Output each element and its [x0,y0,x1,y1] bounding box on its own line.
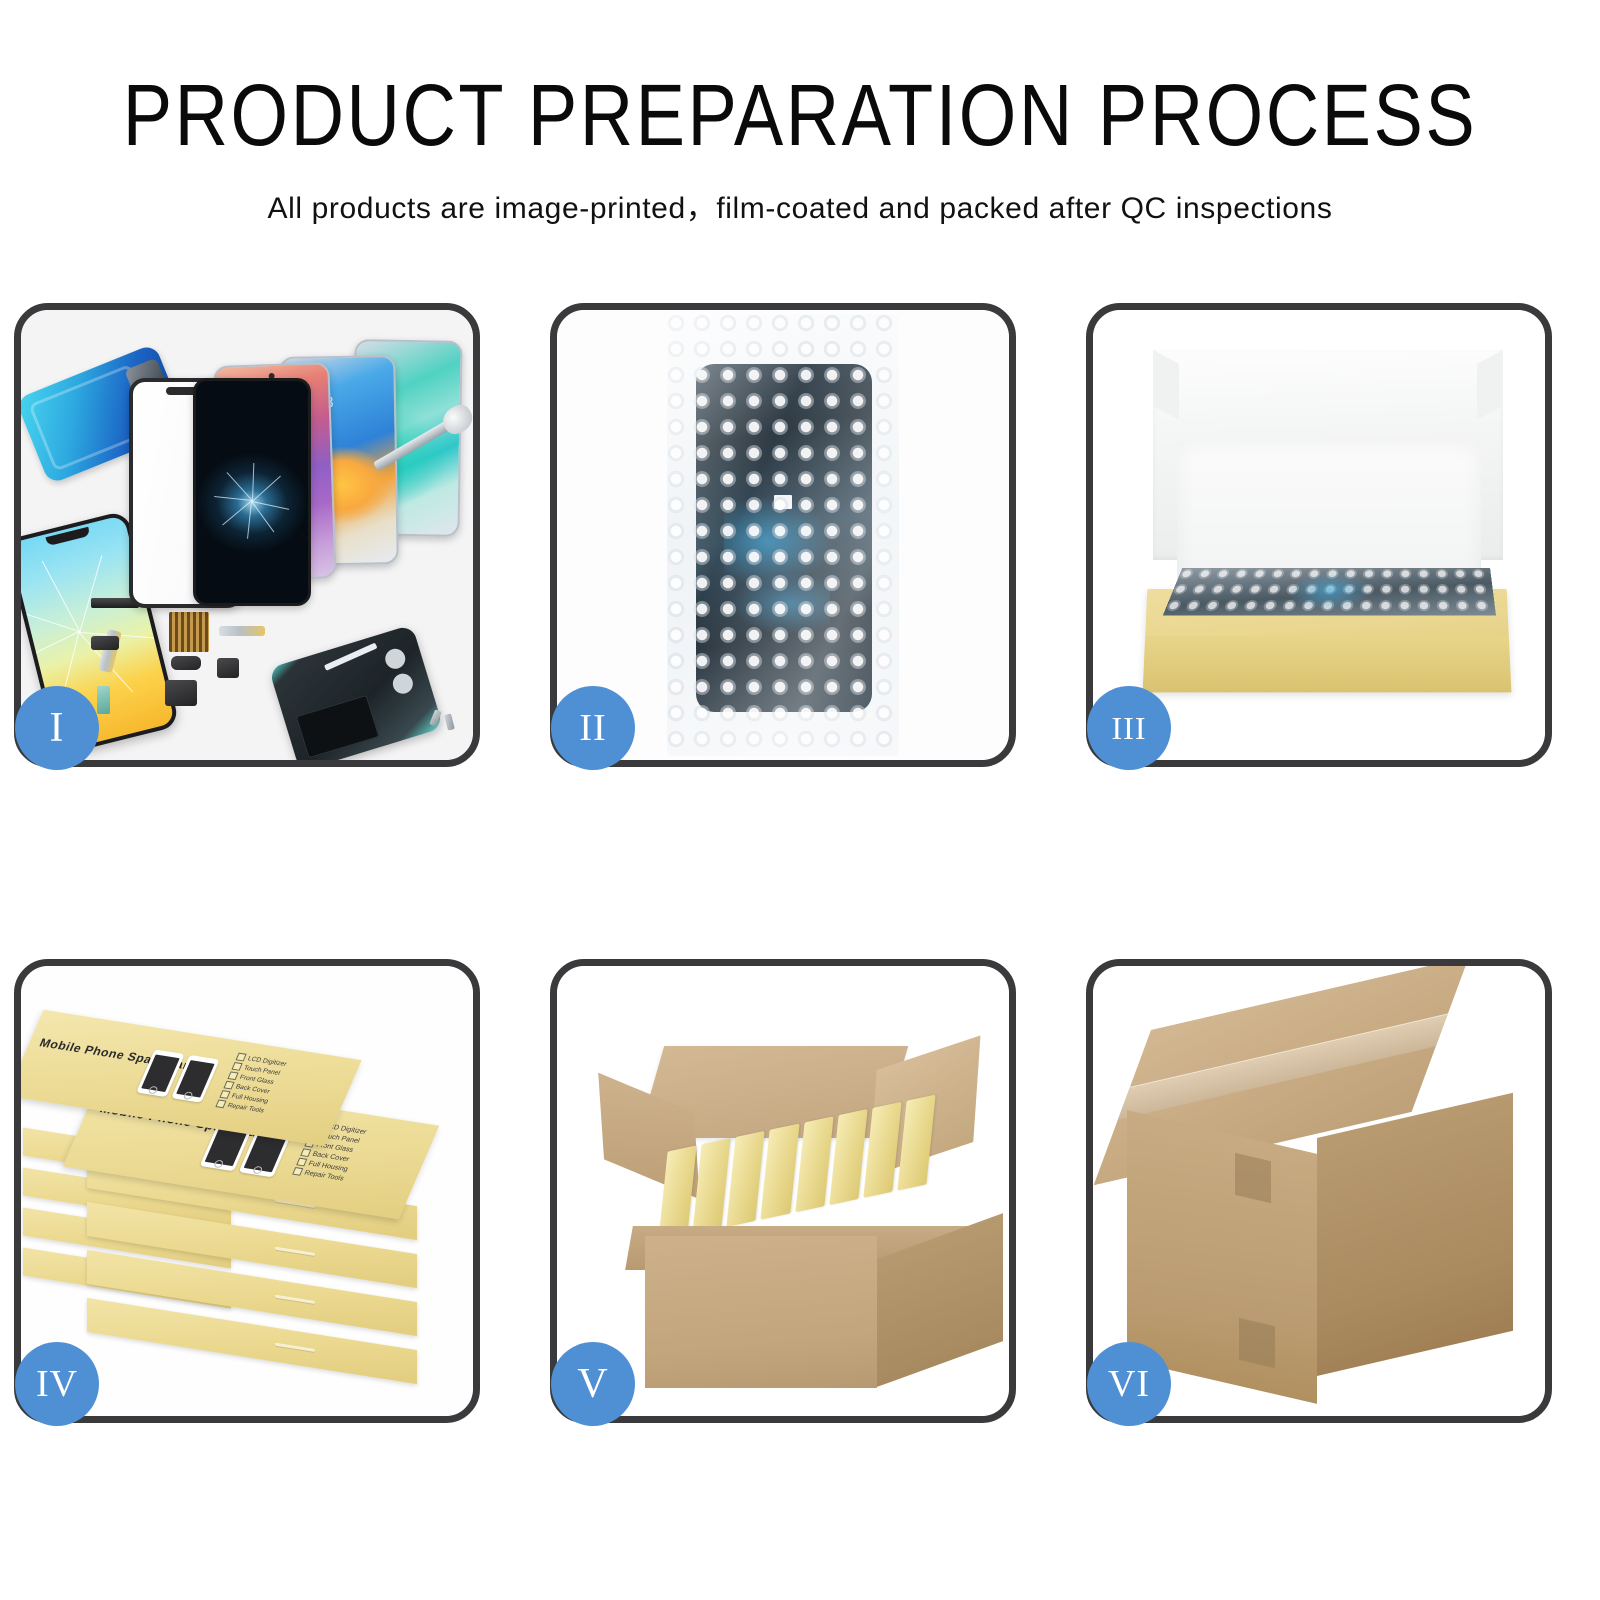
phone-screen-cracked [193,378,311,606]
page-subtitle: All products are image-printed，film-coat… [0,192,1600,225]
screw-part [444,713,455,730]
page-header: PRODUCT PREPARATION PROCESS All products… [0,0,1600,225]
loudspeaker-part [217,658,239,678]
page-title: PRODUCT PREPARATION PROCESS [0,72,1600,159]
bubble-wrapped-product [667,314,899,756]
box-slot [275,1295,315,1304]
step-badge-3: III [1087,686,1171,770]
tray-contents [1163,568,1496,615]
process-steps-grid: 08:08 [14,303,1586,1423]
open-shipping-carton [601,1046,979,1388]
retail-boxes-photo: Mobile Phone Spare Parts LCD Digitizer T… [21,966,473,1416]
step-panel-3: III [1086,303,1552,767]
tray-front-face [1143,636,1512,692]
carton-filling-photo [557,966,1009,1416]
open-mailer-box [1145,350,1509,702]
step-badge-6: VI [1087,1342,1171,1426]
carton-tab [1239,1318,1275,1368]
speaker-module-part [165,680,197,706]
inner-box-photo [1093,310,1545,760]
step-badge-4: IV [15,1342,99,1426]
carton-right-face [1317,1093,1513,1376]
sim-tray-part [97,686,110,714]
phone-notch-icon [45,527,90,546]
bubble-film-texture [667,314,899,756]
step-panel-1: 08:08 [14,303,480,767]
carton-tab [1235,1153,1271,1203]
step-badge-2: II [551,686,635,770]
ic-chip-part [169,612,209,652]
camera-lens-icon [383,646,408,671]
product-parts-photo: 08:08 [21,310,473,760]
retail-box-checklist: LCD Digitizer Touch Panel Front Glass Ba… [215,1053,288,1115]
box-slot [275,1343,315,1352]
battery-part [296,695,380,759]
step-panel-4: Mobile Phone Spare Parts LCD Digitizer T… [14,959,480,1423]
step-panel-5: V [550,959,1016,1423]
side-button-flex-part [219,626,265,636]
step-badge-5: V [551,1342,635,1426]
product-blue-highlight [1284,573,1373,611]
step-badge-1: I [15,686,99,770]
carton-front-face [645,1236,877,1388]
phone-back-housing [268,624,443,760]
small-speaker-part [171,656,201,670]
step-panel-2: II [550,303,1016,767]
box-slot [275,1247,315,1256]
flex-cable-part [324,643,378,671]
retail-box-stack: Mobile Phone Spare Parts LCD Digitizer T… [21,966,473,1416]
mailer-tray [1143,589,1512,692]
sealed-carton-photo [1093,966,1545,1416]
sealed-shipping-carton [1127,1030,1527,1380]
step-panel-6: VI [1086,959,1552,1423]
bubble-wrap-photo [557,310,1009,760]
connector-part [91,636,119,650]
